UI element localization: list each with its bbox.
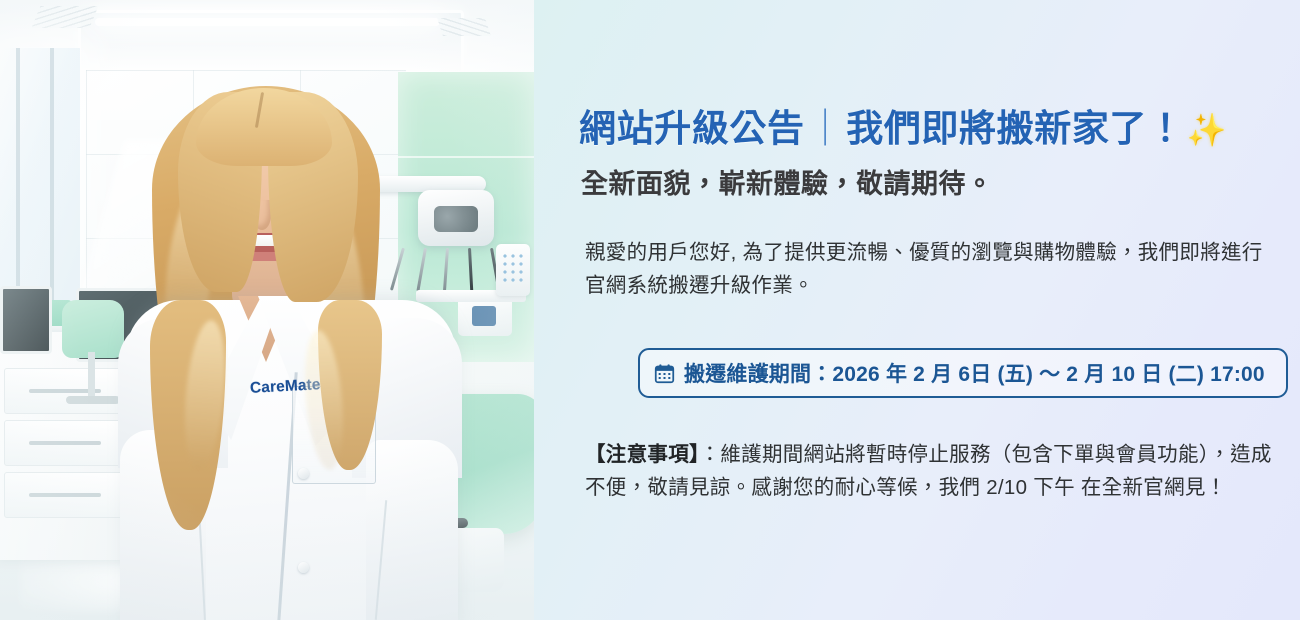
subheadline: 全新面貌，嶄新體驗，敬請期待。 (581, 162, 994, 201)
headline-part2: 我們即將搬新家了！ (846, 108, 1184, 149)
coat-button (298, 468, 309, 479)
sparkles-icon: ✨ (1187, 112, 1227, 148)
headline-part1: 網站升級公告 (579, 108, 805, 149)
dentist-figure: CareMate (0, 0, 534, 620)
lab-coat-sleeve-right (366, 440, 458, 620)
maintenance-window-text: 搬遷維護期間：2026 年 2 月 6日 (五) 〜 2 月 10 日 (二) … (684, 358, 1265, 388)
dentist-photo: CareMate (0, 0, 534, 620)
calendar-icon (654, 363, 675, 384)
body-paragraph: 親愛的用戶您好, 為了提供更流暢、優質的瀏覽與購物體驗，我們即將進行官網系統搬遷… (585, 236, 1275, 302)
maintenance-window-box: 搬遷維護期間：2026 年 2 月 6日 (五) 〜 2 月 10 日 (二) … (638, 348, 1288, 398)
notice-paragraph: 【注意事項】：維護期間網站將暫時停止服務（包含下單與會員功能），造成不便，敬請見… (585, 438, 1285, 504)
headline-separator: ｜ (805, 108, 847, 149)
headline: 網站升級公告｜我們即將搬新家了！✨ (579, 98, 1227, 152)
coat-button (298, 562, 309, 573)
announcement-text-panel: 網站升級公告｜我們即將搬新家了！✨ 全新面貌，嶄新體驗，敬請期待。 親愛的用戶您… (534, 0, 1300, 620)
notice-tag: 【注意事項】 (585, 443, 700, 466)
announcement-banner: CareMate (0, 0, 1300, 620)
